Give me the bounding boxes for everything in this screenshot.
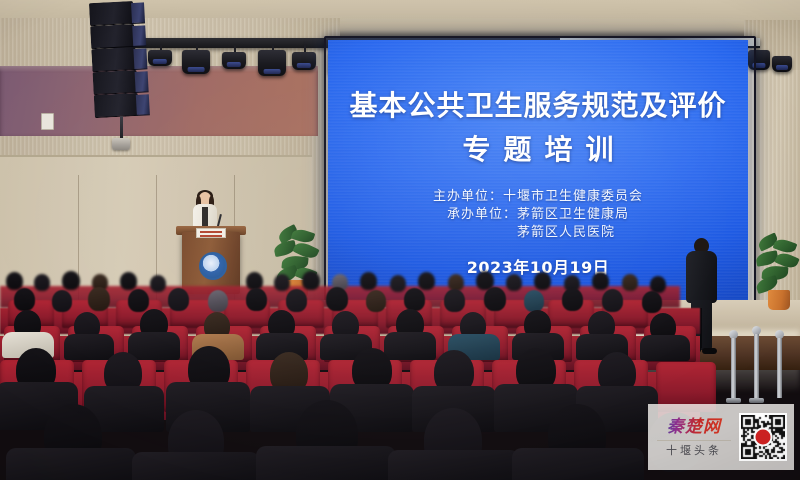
hospital-emblem-icon xyxy=(199,252,227,280)
crowd-control-stanchion xyxy=(754,334,759,400)
audience-head xyxy=(62,271,80,290)
audience-shoulders xyxy=(6,448,136,480)
audience-head xyxy=(418,272,435,290)
podium-plaque xyxy=(196,228,226,238)
audience-head xyxy=(128,289,149,312)
qr-code-icon xyxy=(739,413,787,461)
walker-torso xyxy=(686,251,717,303)
slide-organizers: 主办单位：十堰市卫生健康委员会 承办单位：茅箭区卫生健康局 茅箭区人民医院 xyxy=(328,188,748,242)
audience-head xyxy=(642,291,662,313)
audience-shoulders xyxy=(384,332,436,360)
audience-head xyxy=(6,272,23,290)
organizer-line-1: 主办单位：十堰市卫生健康委员会 xyxy=(328,188,748,206)
watermark-divider xyxy=(657,440,731,441)
audience-shoulders xyxy=(132,452,260,480)
stanchion-base xyxy=(726,398,741,403)
audience-head xyxy=(484,287,506,311)
stage-light-icon xyxy=(222,52,246,69)
audience-head xyxy=(168,288,189,311)
audience-shoulders xyxy=(256,446,396,480)
audience-head xyxy=(52,290,72,312)
audience-head xyxy=(622,274,638,291)
audience-head xyxy=(274,274,290,291)
audience-head xyxy=(360,272,377,290)
stage-light-icon xyxy=(292,52,316,70)
stage-light-icon xyxy=(772,56,792,72)
stanchion-base xyxy=(749,398,764,403)
audience-head xyxy=(404,288,425,311)
slide-title-line1: 基本公共卫生服务规范及评价 xyxy=(328,84,748,124)
audience-head xyxy=(534,272,551,290)
organizer-line-2: 承办单位：茅箭区卫生健康局 xyxy=(328,206,748,224)
stage-light-icon xyxy=(148,50,172,66)
watermark-brand-name: 秦楚网 xyxy=(655,417,733,437)
audience-head xyxy=(592,272,609,290)
stage-light-icon xyxy=(748,50,770,70)
stage-light-icon xyxy=(182,50,210,74)
audience-head xyxy=(120,272,137,290)
audience-head xyxy=(246,288,267,311)
audience-head xyxy=(602,289,623,312)
audience-shoulders xyxy=(512,448,644,480)
audience-head xyxy=(366,290,386,312)
audience-head xyxy=(286,289,307,312)
potted-plant xyxy=(756,236,800,314)
walker-shoe xyxy=(702,348,717,354)
watermark-brand-block: 秦楚网 十堰头条 xyxy=(655,417,733,458)
audience-head xyxy=(34,274,50,291)
audience-head xyxy=(14,288,35,311)
audience-shoulders xyxy=(64,334,114,360)
audience-head xyxy=(524,290,544,312)
audience-head xyxy=(506,274,522,291)
audience-head xyxy=(562,288,583,311)
audience-head xyxy=(326,287,348,311)
audience-head xyxy=(390,275,406,292)
speaker-hoist xyxy=(112,138,130,150)
wall-plate xyxy=(41,113,54,130)
audience-head xyxy=(88,287,110,311)
crowd-control-stanchion xyxy=(777,338,782,398)
watermark-subtitle: 十堰头条 xyxy=(655,444,733,458)
crowd-control-stanchion xyxy=(731,338,736,400)
slide-title-line2: 专题培训 xyxy=(328,128,748,168)
audience-head xyxy=(150,275,166,292)
audience-head xyxy=(208,290,228,312)
watermark: 秦楚网 十堰头条 xyxy=(648,404,794,470)
audience-shoulders xyxy=(640,335,690,361)
stage-light-icon xyxy=(258,50,286,76)
line-array-loudspeaker xyxy=(89,1,141,121)
photo-canvas: 基本公共卫生服务规范及评价 专题培训 主办单位：十堰市卫生健康委员会 承办单位：… xyxy=(0,0,800,480)
audience-head xyxy=(444,289,465,312)
audience-head xyxy=(302,271,320,290)
audience-shoulders xyxy=(388,450,520,480)
audience-shoulders xyxy=(128,332,180,360)
qr-center-logo xyxy=(754,428,773,447)
walker-leg-split xyxy=(700,308,702,348)
